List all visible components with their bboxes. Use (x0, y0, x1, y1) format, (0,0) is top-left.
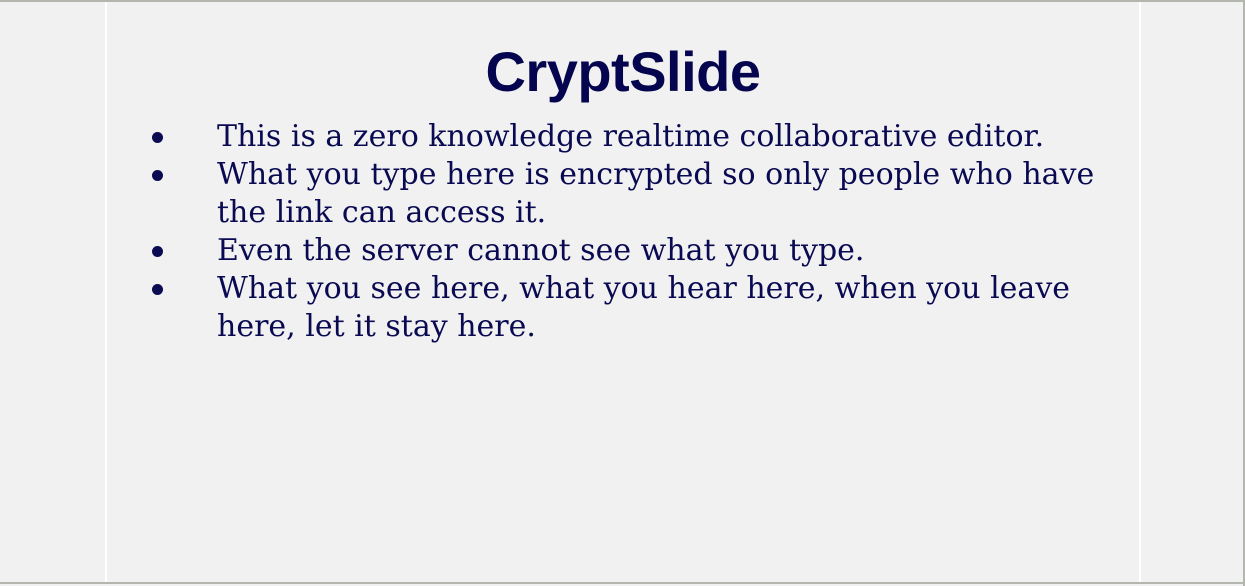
slide-bullet-list[interactable]: This is a zero knowledge realtime collab… (147, 118, 1137, 346)
bullet-text: What you see here, what you hear here, w… (217, 270, 1137, 346)
list-item[interactable]: This is a zero knowledge realtime collab… (147, 118, 1137, 156)
bullet-dot-icon (152, 132, 163, 143)
bullet-dot-icon (152, 170, 163, 181)
slide-title[interactable]: CryptSlide (107, 44, 1139, 100)
list-item[interactable]: What you type here is encrypted so only … (147, 156, 1137, 232)
bullet-dot-icon (152, 284, 163, 295)
slide-surface[interactable]: CryptSlide This is a zero knowledge real… (105, 2, 1141, 582)
bullet-text: What you type here is encrypted so only … (217, 156, 1137, 232)
bullet-text: Even the server cannot see what you type… (217, 232, 1137, 270)
page-frame: CryptSlide This is a zero knowledge real… (0, 0, 1245, 584)
bullet-text: This is a zero knowledge realtime collab… (217, 118, 1137, 156)
bullet-dot-icon (152, 246, 163, 257)
list-item[interactable]: Even the server cannot see what you type… (147, 232, 1137, 270)
list-item[interactable]: What you see here, what you hear here, w… (147, 270, 1137, 346)
